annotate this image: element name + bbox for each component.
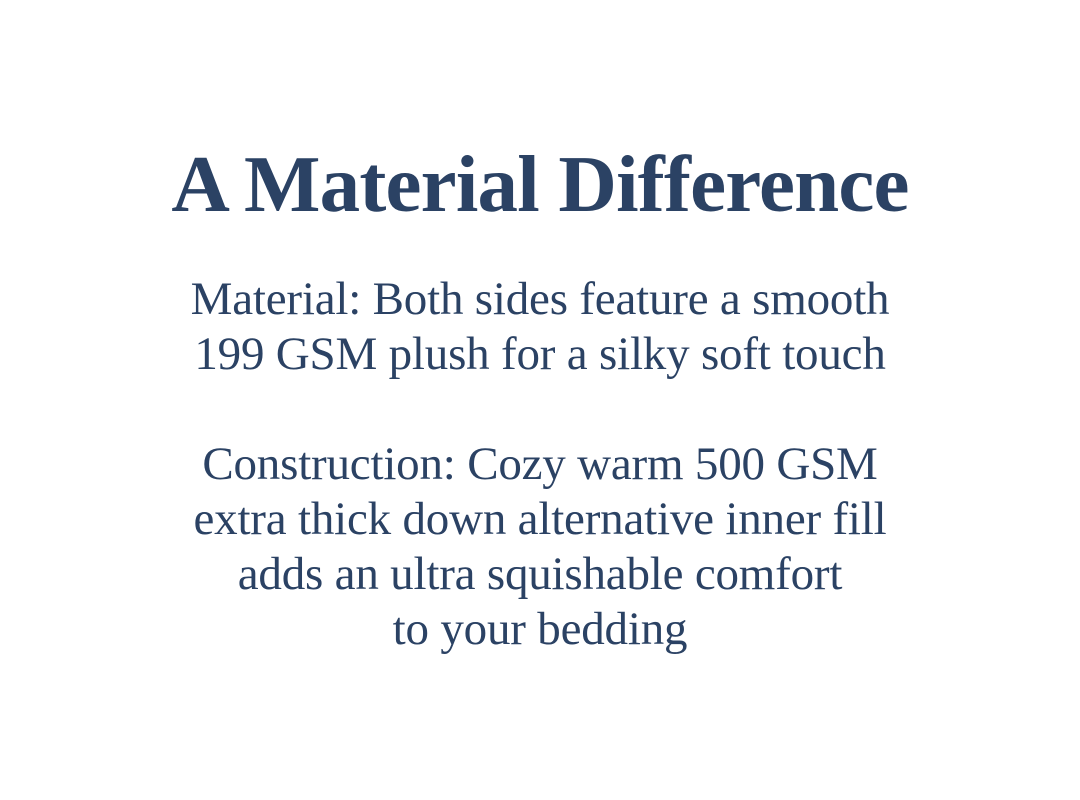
page-title: A Material Difference bbox=[0, 136, 1080, 232]
paragraph-material: Material: Both sides feature a smooth 19… bbox=[0, 272, 1080, 382]
paragraph-construction: Construction: Cozy warm 500 GSM extra th… bbox=[0, 437, 1080, 657]
paragraph-construction-line-2: extra thick down alternative inner fill bbox=[0, 492, 1080, 547]
body-copy: Material: Both sides feature a smooth 19… bbox=[0, 272, 1080, 657]
product-description-slide: A Material Difference Material: Both sid… bbox=[0, 0, 1080, 800]
paragraph-construction-line-4: to your bedding bbox=[0, 602, 1080, 657]
paragraph-construction-line-3: adds an ultra squishable comfort bbox=[0, 547, 1080, 602]
paragraph-material-line-1: Material: Both sides feature a smooth bbox=[0, 272, 1080, 327]
paragraph-spacer bbox=[0, 382, 1080, 437]
paragraph-material-line-2: 199 GSM plush for a silky soft touch bbox=[0, 327, 1080, 382]
paragraph-construction-line-1: Construction: Cozy warm 500 GSM bbox=[0, 437, 1080, 492]
